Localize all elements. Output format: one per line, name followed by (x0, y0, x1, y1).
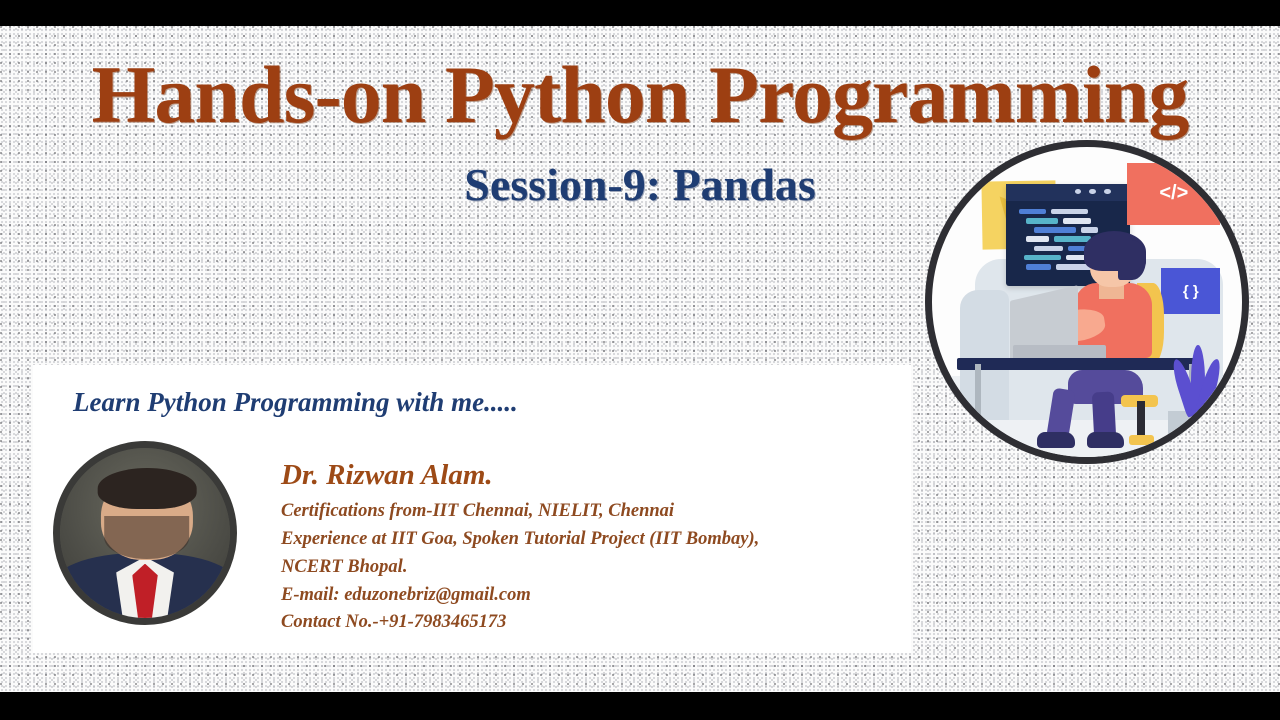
letterbox-bar-top (0, 0, 1280, 26)
code-window-titlebar (1006, 184, 1130, 200)
presenter-contact: Contact No.-+91-7983465173 (281, 609, 759, 637)
person-hair-back (1118, 240, 1146, 280)
presenter-avatar (53, 441, 237, 625)
person-shoe (1087, 432, 1124, 448)
card-tagline: Learn Python Programming with me..... (73, 387, 518, 418)
avatar-beard (104, 516, 189, 559)
presenter-detail-line: Certifications from-IIT Chennai, NIELIT,… (281, 498, 759, 526)
letterbox-bar-bottom (0, 692, 1280, 720)
presenter-name: Dr. Rizwan Alam. (281, 459, 759, 492)
presenter-detail-line: Experience at IIT Goa, Spoken Tutorial P… (281, 526, 759, 554)
desk-leg (975, 364, 981, 442)
presenter-card: Learn Python Programming with me..... Dr… (33, 365, 911, 653)
code-tag-badge-icon: </> (1127, 163, 1220, 225)
stool-pole (1137, 401, 1145, 438)
presenter-detail-line: NCERT Bhopal. (281, 554, 759, 582)
illustration-couch-arm (960, 290, 1010, 420)
desk-surface (957, 358, 1199, 370)
slide-canvas: Hands-on Python Programming Session-9: P… (0, 26, 1280, 692)
person-shoe (1037, 432, 1074, 448)
presenter-email: E-mail: eduzonebriz@gmail.com (281, 582, 759, 610)
brace-tag-badge-icon: { } (1161, 268, 1220, 315)
stool-foot (1129, 435, 1154, 444)
developer-illustration: </> { } (925, 140, 1249, 464)
avatar-hair (98, 468, 197, 509)
slide-title: Hands-on Python Programming (0, 54, 1280, 136)
presenter-details: Dr. Rizwan Alam. Certifications from-IIT… (281, 459, 759, 637)
